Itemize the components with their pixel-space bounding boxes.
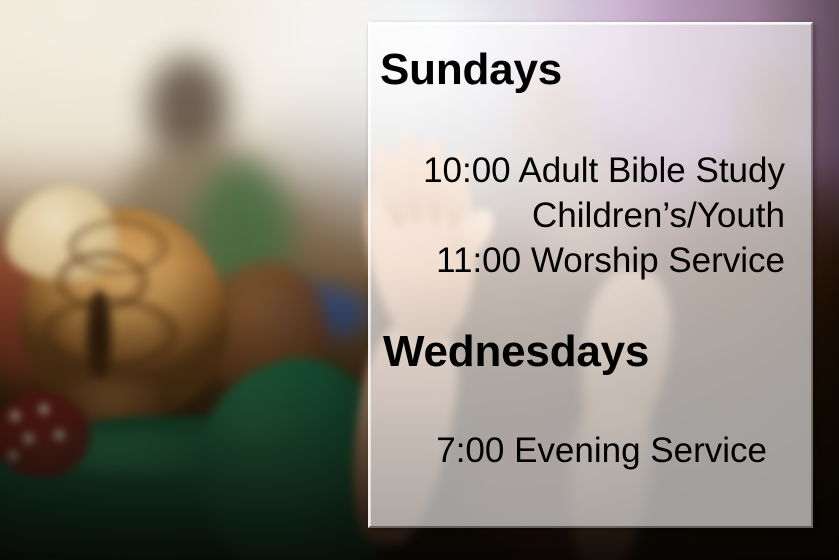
wednesdays-heading: Wednesdays [383,330,649,374]
sunday-times-list: 10:00 Adult Bible Study Children’s/Youth… [370,148,785,283]
sunday-time-line: 10:00 Adult Bible Study [370,148,785,193]
sunday-time-line: 11:00 Worship Service [370,238,785,283]
wednesday-time-line: 7:00 Evening Service [370,428,767,473]
wednesday-times-list: 7:00 Evening Service [370,428,767,473]
slide-canvas: Sundays 10:00 Adult Bible Study Children… [0,0,839,560]
sundays-heading: Sundays [380,48,562,92]
service-times-panel: Sundays 10:00 Adult Bible Study Children… [368,22,813,528]
service-times-content: Sundays 10:00 Adult Bible Study Children… [370,24,811,526]
sunday-time-line: Children’s/Youth [370,193,785,238]
